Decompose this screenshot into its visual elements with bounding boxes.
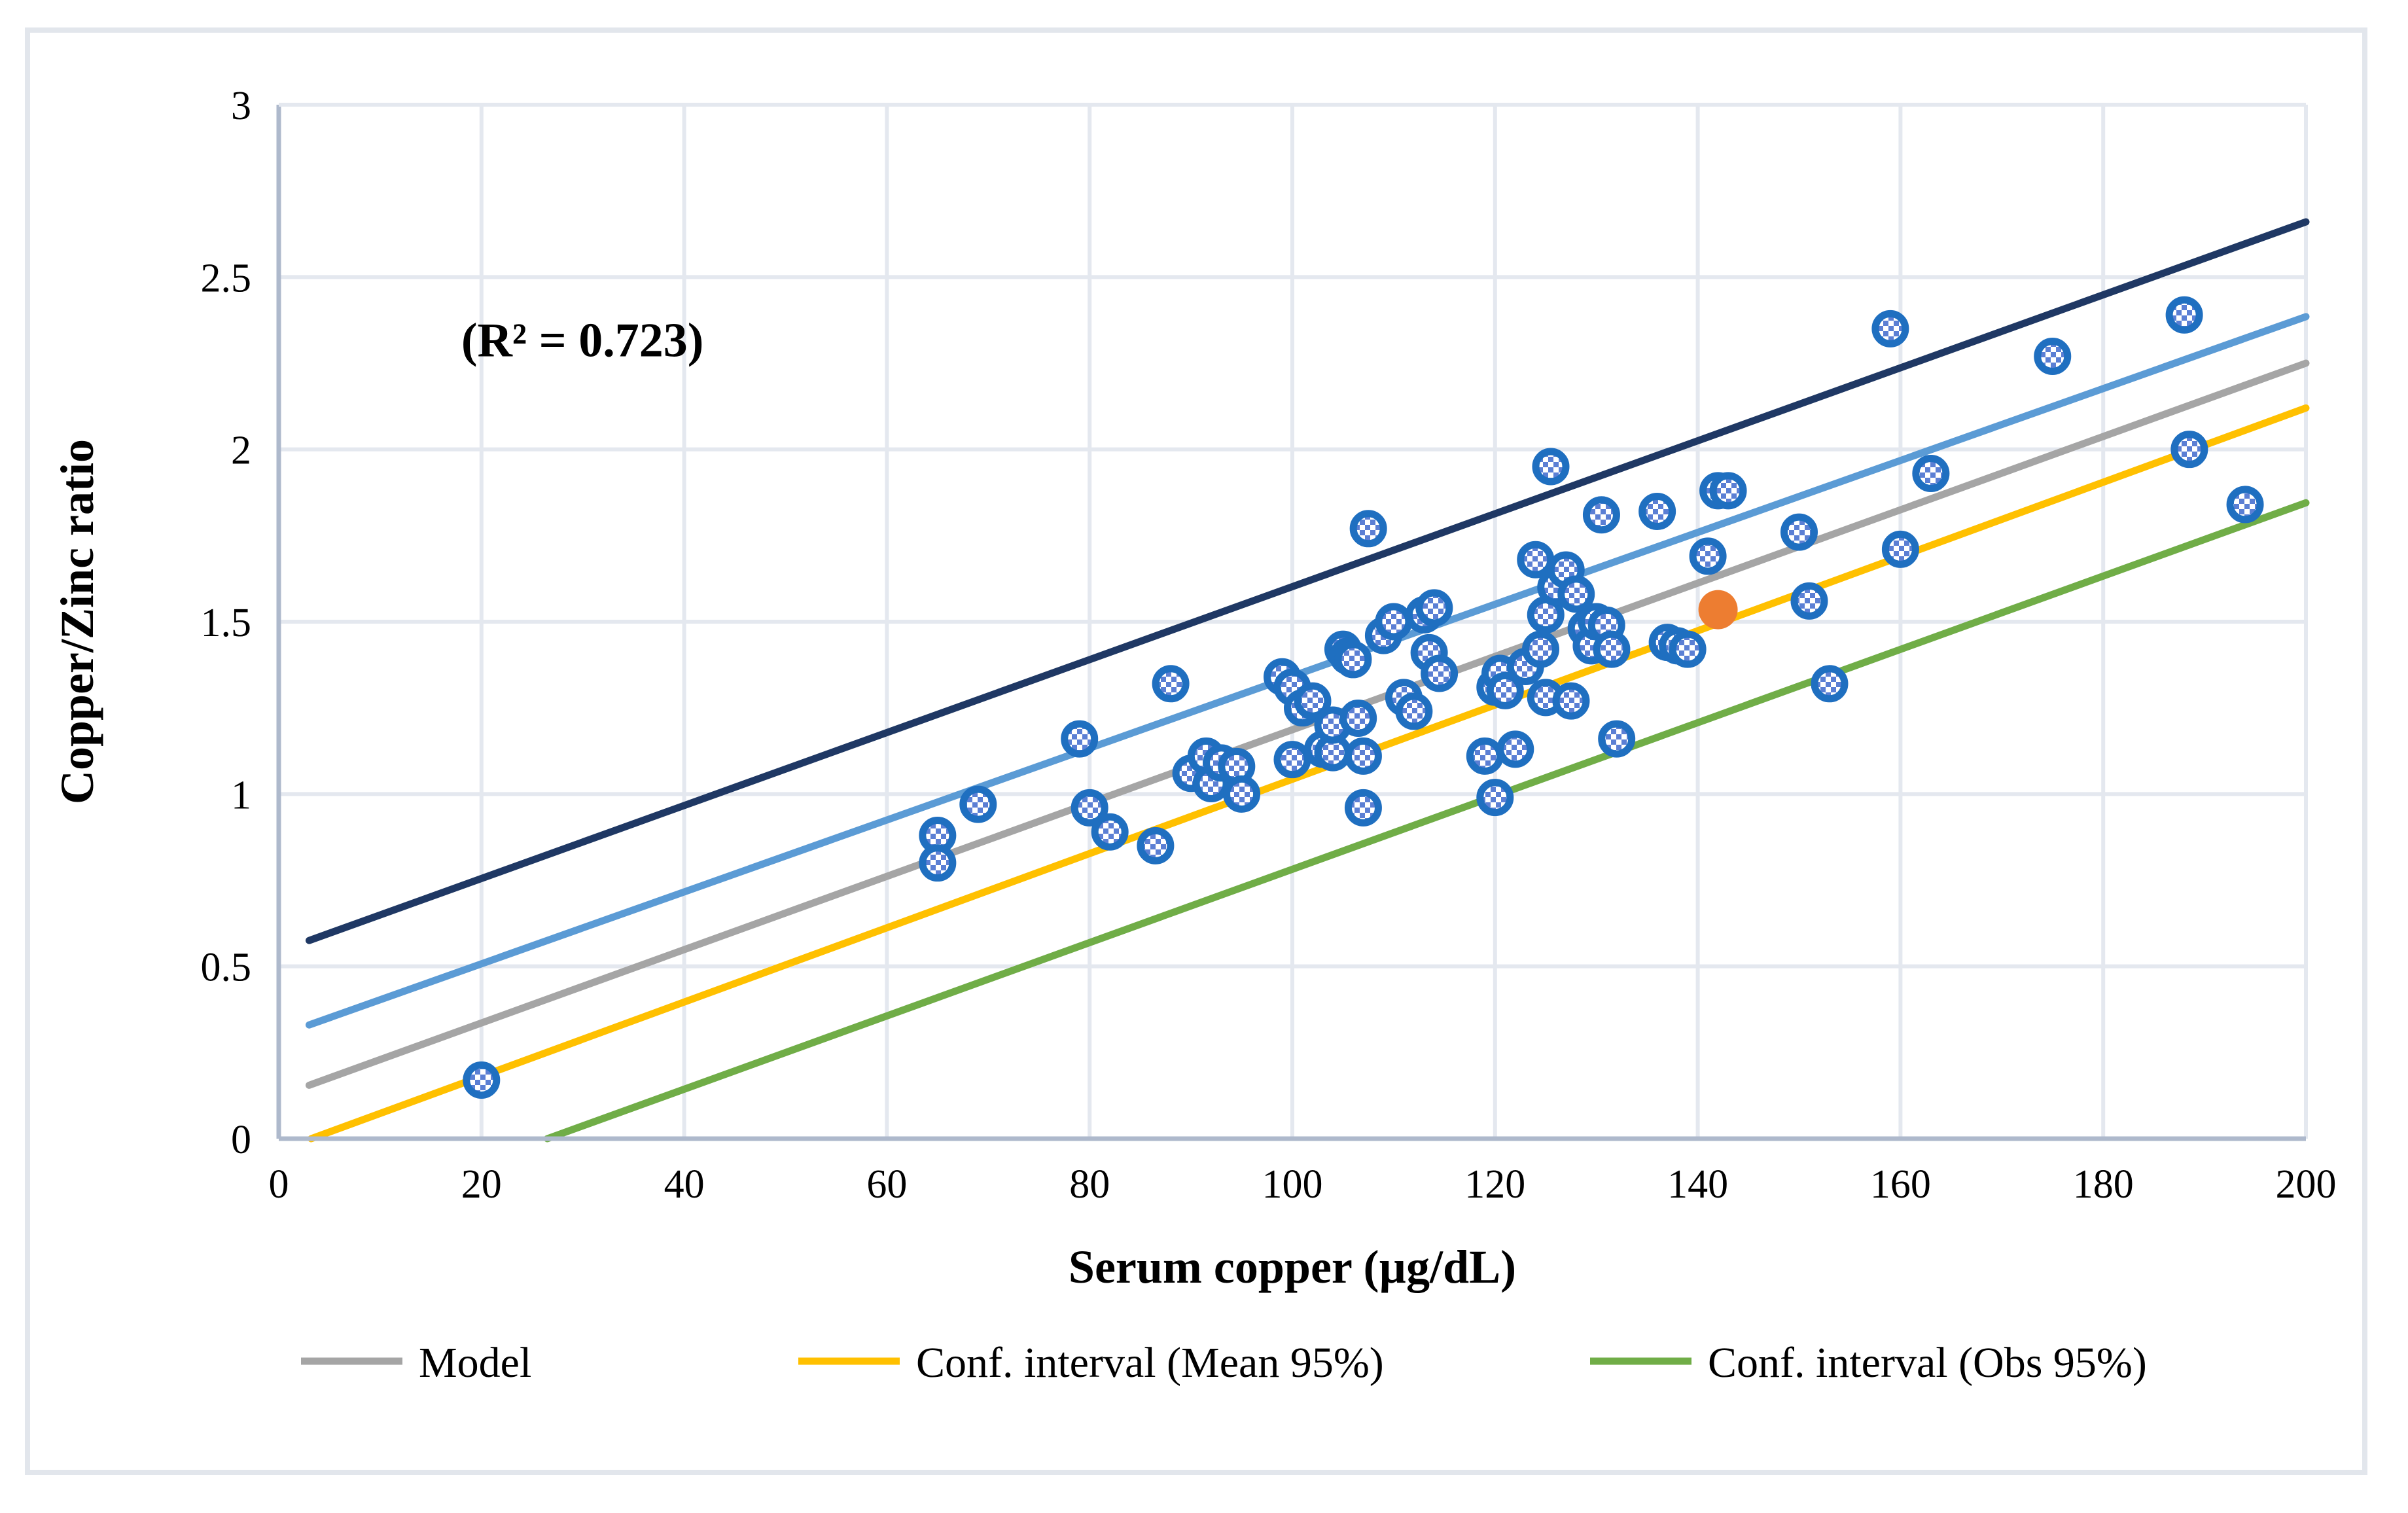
data-point <box>1586 500 1616 530</box>
data-point <box>1642 496 1673 526</box>
y-tick-label: 1.5 <box>201 601 252 645</box>
chart-legend: ModelConf. interval (Mean 95%)Conf. inte… <box>301 1339 2147 1387</box>
data-point <box>1526 634 1556 664</box>
data-point <box>1561 579 1591 609</box>
x-tick-label: 160 <box>1870 1162 1931 1207</box>
y-tick-label: 0 <box>231 1118 251 1162</box>
data-point <box>1156 669 1186 699</box>
x-tick-label: 100 <box>1262 1162 1323 1207</box>
data-point <box>1794 586 1824 616</box>
y-tick-label: 2.5 <box>201 256 252 300</box>
y-tick-label: 0.5 <box>201 946 252 990</box>
x-tick-label: 0 <box>269 1162 289 1207</box>
data-point <box>1713 476 1743 506</box>
data-point <box>1425 658 1455 688</box>
data-point <box>1602 724 1632 754</box>
x-tick-label: 20 <box>461 1162 502 1207</box>
data-point <box>1277 745 1307 775</box>
data-point <box>1399 696 1429 726</box>
data-point <box>2174 435 2204 465</box>
data-point <box>1338 645 1368 675</box>
legend-item-model[interactable]: Model <box>301 1339 531 1387</box>
data-point <box>1536 452 1566 482</box>
data-point <box>1556 686 1586 716</box>
x-tick-label: 200 <box>2276 1162 2337 1207</box>
data-point <box>963 789 993 819</box>
data-point <box>2169 300 2199 330</box>
x-tick-label: 180 <box>2073 1162 2134 1207</box>
highlighted-data-point <box>1699 590 1738 630</box>
r-squared-annotation: (R² = 0.723) <box>461 313 704 367</box>
data-point <box>1815 669 1845 699</box>
y-axis-title: Copper/Zinc ratio <box>51 439 103 804</box>
y-tick-label: 2 <box>231 429 251 473</box>
legend-label: Conf. interval (Obs 95%) <box>1708 1339 2147 1387</box>
scatter-plot-chart: 00.511.522.53020406080100120140160180200… <box>30 33 2362 1470</box>
data-point <box>2038 341 2068 371</box>
x-tick-label: 40 <box>664 1162 705 1207</box>
data-point <box>1500 734 1531 764</box>
r-squared-label: (R² = 0.723) <box>461 313 704 367</box>
legend-item-conf-mean[interactable]: Conf. interval (Mean 95%) <box>798 1339 1384 1387</box>
data-point <box>1095 817 1125 847</box>
data-point <box>1419 593 1449 623</box>
data-point <box>1348 792 1378 823</box>
x-tick-label: 140 <box>1667 1162 1728 1207</box>
data-point <box>923 848 953 878</box>
data-point <box>1916 459 1946 489</box>
x-tick-label: 80 <box>1069 1162 1110 1207</box>
figure-container: 00.511.522.53020406080100120140160180200… <box>25 27 2367 1475</box>
legend-label: Conf. interval (Mean 95%) <box>916 1339 1384 1387</box>
data-point <box>1227 779 1257 809</box>
legend-item-conf-obs[interactable]: Conf. interval (Obs 95%) <box>1590 1339 2147 1387</box>
data-point <box>1379 607 1409 637</box>
data-point <box>1885 534 1915 564</box>
data-point <box>2230 489 2260 520</box>
y-tick-label: 3 <box>231 84 251 128</box>
data-point <box>1693 541 1723 571</box>
data-point <box>1353 514 1383 544</box>
x-tick-label: 120 <box>1464 1162 1525 1207</box>
data-point <box>1141 830 1171 861</box>
y-tick-label: 1 <box>231 773 251 817</box>
x-axis-title: Serum copper (µg/dL) <box>1069 1241 1516 1293</box>
data-point <box>1673 634 1703 664</box>
data-point <box>1480 783 1510 813</box>
data-point <box>1470 741 1500 771</box>
x-tick-label: 60 <box>866 1162 907 1207</box>
data-point <box>1343 703 1373 733</box>
data-point <box>1348 741 1378 771</box>
data-point <box>1597 634 1627 664</box>
data-point <box>1875 313 1905 344</box>
data-point <box>1784 517 1815 547</box>
data-point <box>467 1065 497 1095</box>
data-point <box>1065 724 1095 754</box>
legend-label: Model <box>419 1339 531 1387</box>
data-point <box>1521 544 1551 575</box>
